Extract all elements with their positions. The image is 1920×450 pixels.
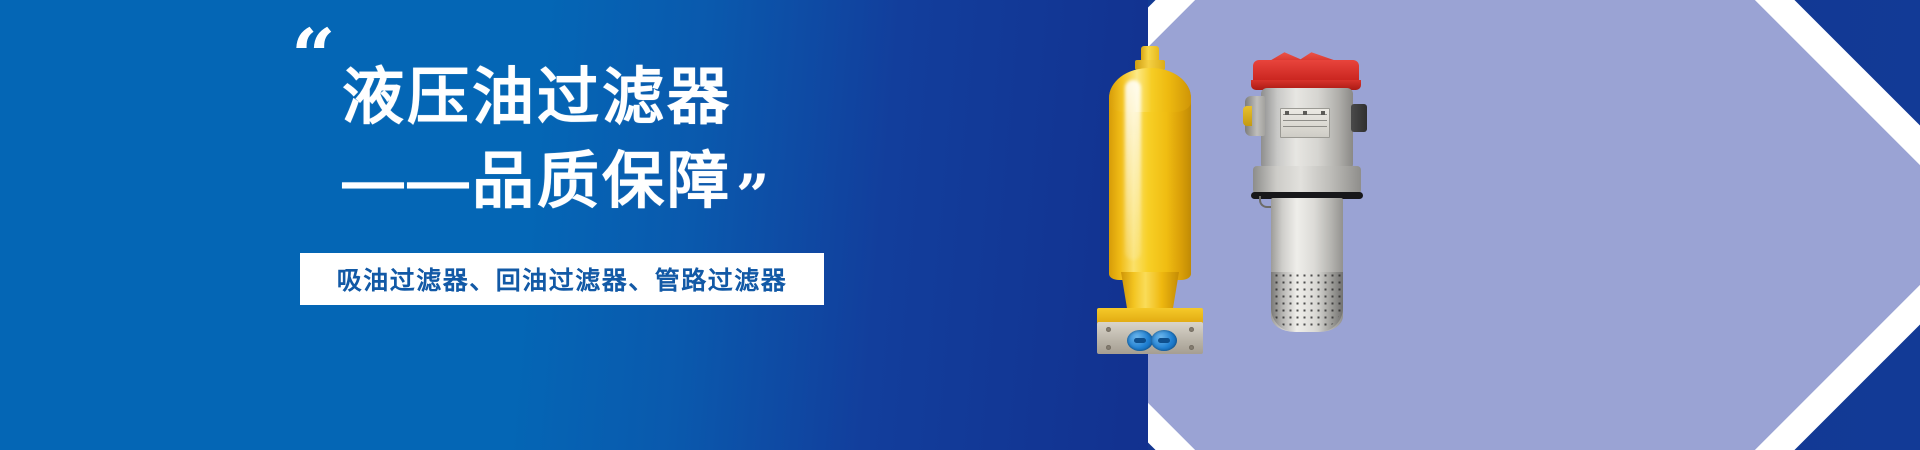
nameplate-line [1283, 120, 1327, 121]
subtitle-text: 吸油过滤器、回油过滤器、管路过滤器 [337, 261, 788, 297]
subtitle-bar: 吸油过滤器、回油过滤器、管路过滤器 [300, 253, 824, 305]
headline-line-2: ——品质保障” [342, 140, 932, 224]
mesh-shading [1271, 272, 1343, 332]
nameplate-mark [1303, 111, 1307, 115]
filter-highlight [1125, 80, 1141, 260]
filter-shoulder [1109, 68, 1191, 112]
base-bolt [1106, 345, 1111, 350]
base-bolt [1189, 327, 1194, 332]
hydraulic-filter-promo-banner: “ 液压油过滤器 ——品质保障” 吸油过滤器、回油过滤器、管路过滤器 [0, 0, 1920, 450]
base-bolt [1106, 327, 1111, 332]
nameplate-line [1283, 126, 1327, 127]
housing-side-boss-right [1351, 104, 1367, 132]
outlet-port [1151, 330, 1177, 351]
pressure-line-filter-image [1097, 46, 1203, 342]
headline-line-2-text: ——品质保障 [342, 147, 732, 216]
nameplate-mark [1285, 111, 1289, 115]
mounting-collar [1253, 166, 1361, 194]
housing-yellow-plug [1243, 106, 1252, 126]
return-line-filter-image [1243, 50, 1375, 340]
nameplate-mark [1321, 111, 1325, 115]
base-bolt [1189, 345, 1194, 350]
closing-quote-mark: ” [736, 162, 766, 230]
headline-line-1: 液压油过滤器 [342, 56, 932, 140]
inlet-port [1127, 330, 1153, 351]
opening-quote-mark: “ [291, 28, 332, 87]
product-images-group [0, 0, 1920, 450]
headline-block: “ 液压油过滤器 ——品质保障” [292, 26, 932, 224]
page-title: 液压油过滤器 ——品质保障” [292, 56, 932, 224]
nameplate-label [1280, 108, 1330, 138]
